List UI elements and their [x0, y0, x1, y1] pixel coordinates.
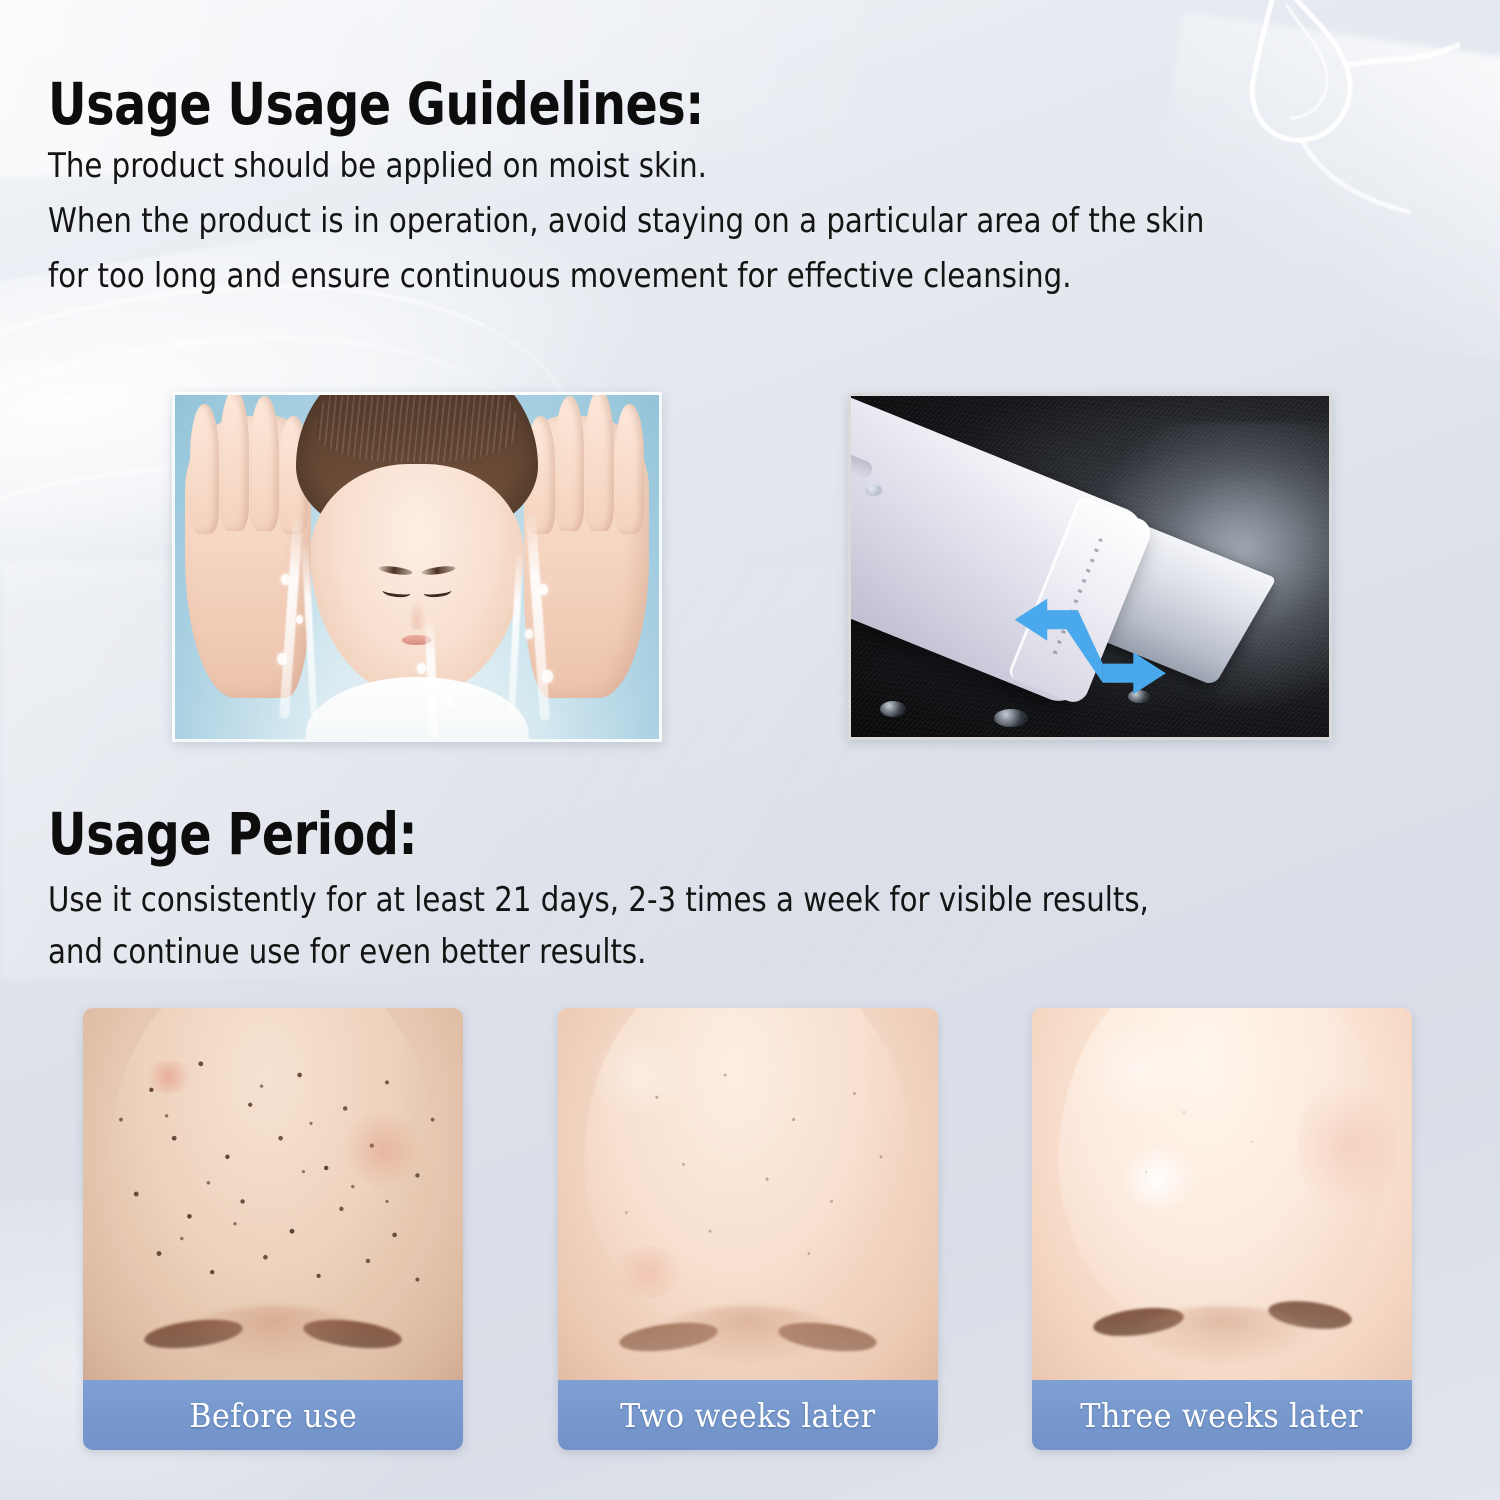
- photo-device-motion-demo: [848, 393, 1332, 740]
- guidelines-line-2: When the product is in operation, avoid …: [48, 201, 1204, 241]
- result-card-before-use: Before use: [83, 1008, 463, 1450]
- infographic-page: Usage Usage Guidelines: The product shou…: [0, 0, 1500, 1500]
- caption-two-weeks: Two weeks later: [620, 1396, 875, 1435]
- usage-guidelines-heading: Usage Usage Guidelines:: [48, 70, 704, 138]
- caption-three-weeks: Three weeks later: [1081, 1396, 1364, 1435]
- period-line-1: Use it consistently for at least 21 days…: [48, 880, 1149, 920]
- guidelines-line-1: The product should be applied on moist s…: [48, 146, 707, 186]
- photo-nose-two-weeks: [558, 1008, 938, 1380]
- water-droplet-icon: [1160, 0, 1460, 220]
- motion-arrows-icon: [1009, 584, 1172, 720]
- guidelines-line-3: for too long and ensure continuous movem…: [48, 256, 1071, 296]
- water-swoosh-right-icon: [1141, 12, 1500, 368]
- caption-band-before-use: Before use: [83, 1380, 463, 1450]
- caption-band-two-weeks: Two weeks later: [558, 1380, 938, 1450]
- caption-before-use: Before use: [189, 1396, 357, 1435]
- photo-nose-three-weeks: [1032, 1008, 1412, 1380]
- period-line-2: and continue use for even better results…: [48, 932, 646, 972]
- photo-nose-before-use: [83, 1008, 463, 1380]
- result-card-two-weeks: Two weeks later: [558, 1008, 938, 1450]
- photo-woman-washing-face: [172, 392, 662, 742]
- usage-period-heading: Usage Period:: [48, 800, 417, 868]
- result-card-three-weeks: Three weeks later: [1032, 1008, 1412, 1450]
- caption-band-three-weeks: Three weeks later: [1032, 1380, 1412, 1450]
